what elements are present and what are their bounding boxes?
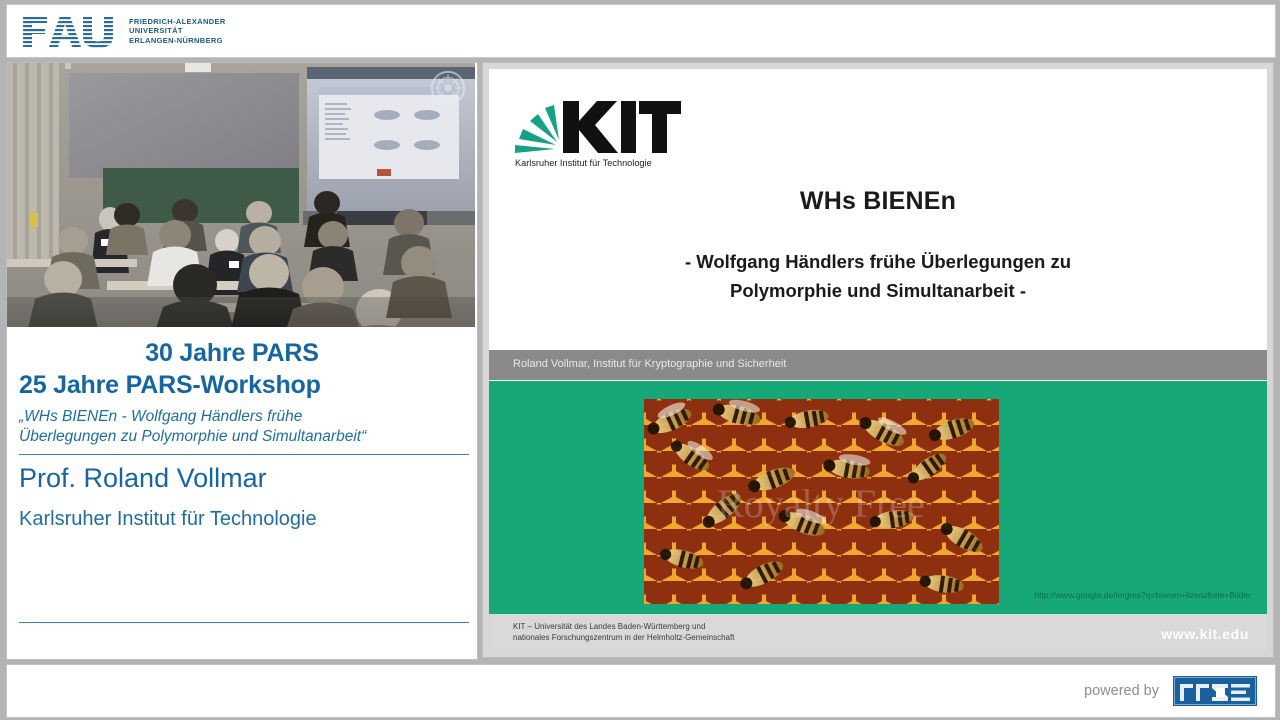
presentation-slide: Karlsruher Institut für Technologie WHs …: [489, 69, 1267, 651]
slide-subtitle-line-1: - Wolfgang Händlers frühe Überlegungen z…: [549, 247, 1207, 276]
speaker-name: Prof. Roland Vollmar: [19, 460, 465, 496]
slide-subtitle: - Wolfgang Händlers frühe Überlegungen z…: [549, 247, 1207, 305]
slide-title: WHs BIENEn: [489, 187, 1267, 216]
fau-logo-icon: [21, 13, 117, 49]
event-title-line-2: 25 Jahre PARS-Workshop: [19, 369, 465, 401]
kit-logo-icon: Karlsruher Institut für Technologie: [511, 87, 683, 171]
slide-footer-line-2: nationales Forschungszentrum in der Helm…: [513, 632, 734, 643]
event-title-line-1: 30 Jahre PARS: [19, 337, 465, 369]
slide-author-bar: Roland Vollmar, Institut für Kryptograph…: [489, 350, 1267, 380]
honeybees-photo-image: Royalty Free: [644, 399, 999, 604]
fau-logo: FRIEDRICH-ALEXANDER UNIVERSITÄT ERLANGEN…: [21, 13, 226, 49]
speaker-affiliation: Karlsruher Institut für Technologie: [19, 505, 465, 533]
fau-org-line-3: ERLANGEN-NÜRNBERG: [129, 36, 226, 46]
honeybees-photo: Royalty Free: [644, 399, 999, 604]
photo-watermark-text: Royalty Free: [717, 481, 925, 526]
powered-by-label: powered by: [1084, 683, 1159, 699]
fau-org-line-1: FRIEDRICH-ALEXANDER: [129, 17, 226, 27]
lecture-hall-photo-image: [7, 63, 475, 327]
fau-org-line-2: UNIVERSITÄT: [129, 26, 226, 36]
talk-info-block: 30 Jahre PARS 25 Jahre PARS-Workshop „WH…: [7, 327, 477, 657]
slide-viewer[interactable]: Karlsruher Institut für Technologie WHs …: [482, 62, 1274, 658]
divider-bottom: [19, 622, 469, 623]
talk-subtitle: „WHs BIENEn - Wolfgang Händlers frühe Üb…: [19, 407, 465, 447]
talk-subtitle-line-2: Überlegungen zu Polymorphie und Simultan…: [19, 427, 465, 447]
slide-footer-line-1: KIT – Universität des Landes Baden-Württ…: [513, 621, 734, 632]
slide-footer-url: www.kit.edu: [1161, 626, 1249, 642]
fau-org-name: FRIEDRICH-ALEXANDER UNIVERSITÄT ERLANGEN…: [129, 17, 226, 46]
slide-footer: KIT – Universität des Landes Baden-Württ…: [489, 614, 1267, 651]
page-root: FRIEDRICH-ALEXANDER UNIVERSITÄT ERLANGEN…: [0, 0, 1280, 720]
divider-top: [19, 454, 469, 455]
talk-subtitle-line-1: „WHs BIENEn - Wolfgang Händlers frühe: [19, 407, 465, 427]
left-panel: 30 Jahre PARS 25 Jahre PARS-Workshop „WH…: [6, 62, 478, 660]
lecture-hall-photo: [7, 63, 475, 327]
slide-footer-text: KIT – Universität des Landes Baden-Württ…: [513, 621, 734, 643]
kit-logo-tagline: Karlsruher Institut für Technologie: [515, 158, 652, 168]
image-source-url: http://www.google.de/imgres?q=bienen+liz…: [1034, 590, 1251, 600]
slide-author-text: Roland Vollmar, Institut für Kryptograph…: [513, 358, 786, 370]
circular-seal-watermark-icon: [429, 69, 467, 107]
bottom-bar: powered by: [6, 664, 1276, 718]
slide-subtitle-line-2: Polymorphie und Simultanarbeit -: [549, 276, 1207, 305]
slide-green-band: Royalty Free http://www.google.de/imgres…: [489, 381, 1267, 614]
event-title: 30 Jahre PARS 25 Jahre PARS-Workshop: [19, 337, 465, 401]
rrze-logo-icon[interactable]: [1173, 676, 1257, 706]
fau-header: FRIEDRICH-ALEXANDER UNIVERSITÄT ERLANGEN…: [6, 4, 1276, 58]
